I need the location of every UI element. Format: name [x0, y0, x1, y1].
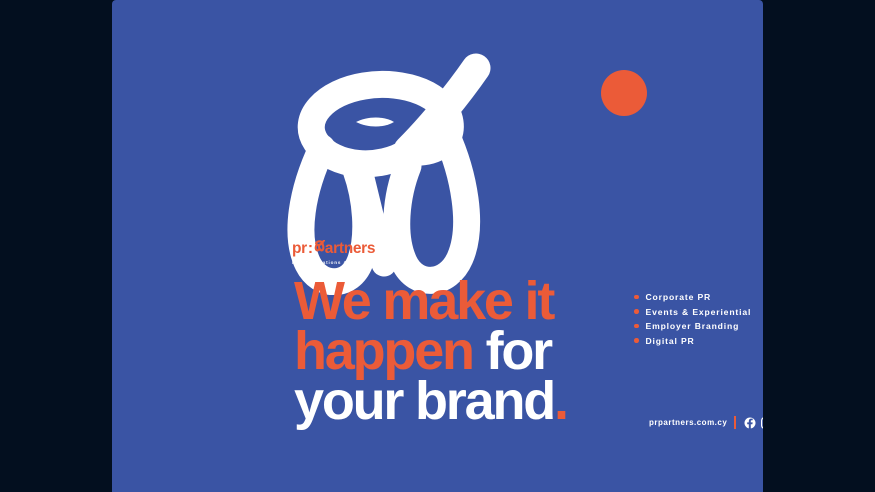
website-url[interactable]: prpartners.com.cy [649, 418, 727, 427]
headline-line-3-white: your brand [294, 371, 554, 431]
list-item: Events & Experiential [634, 307, 751, 317]
headline: We make it happen for your brand. [294, 276, 567, 427]
headline-line-3: your brand. [294, 376, 567, 426]
footer: prpartners.com.cy [649, 416, 763, 429]
footer-divider [734, 416, 736, 429]
services-list: Corporate PR Events & Experiential Emplo… [634, 292, 751, 350]
wordmark-row: pr : artners [292, 240, 386, 257]
wordmark-figure-glyph [314, 240, 325, 253]
headline-line-2: happen for [294, 326, 567, 376]
wordmark-separator: : [307, 241, 314, 257]
service-label: Employer Branding [646, 321, 740, 331]
wordmark-suffix: artners [325, 241, 375, 257]
list-item: Corporate PR [634, 292, 751, 302]
screenshot-canvas: pr : artners Public Relations [0, 0, 875, 492]
service-label: Digital PR [646, 336, 695, 346]
headline-period: . [554, 371, 567, 431]
facebook-icon[interactable] [744, 417, 756, 429]
prpartners-wordmark[interactable]: pr : artners Public Relations [292, 240, 386, 265]
bullet-icon [634, 324, 639, 329]
bullet-icon [634, 338, 639, 343]
orange-accent-dot [601, 70, 647, 116]
bullet-icon [634, 295, 639, 300]
promotional-poster: pr : artners Public Relations [112, 0, 763, 492]
wordmark-prefix: pr [292, 241, 307, 257]
list-item: Employer Branding [634, 321, 751, 331]
instagram-icon[interactable] [761, 417, 763, 429]
bullet-icon [634, 309, 639, 314]
list-item: Digital PR [634, 336, 751, 346]
service-label: Corporate PR [646, 292, 712, 302]
headline-line-1: We make it [294, 276, 567, 326]
service-label: Events & Experiential [646, 307, 752, 317]
wordmark-tagline: Public Relations & Experiences [292, 260, 386, 265]
